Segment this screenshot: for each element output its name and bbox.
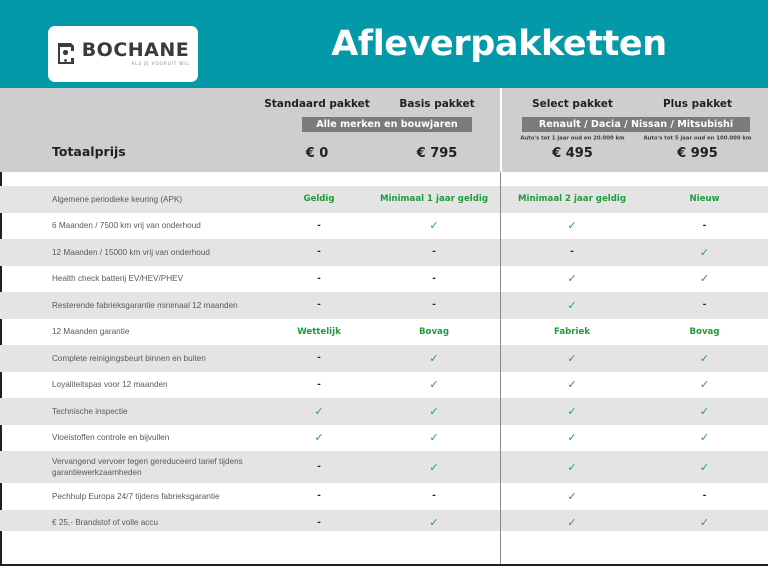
bochane-logo: BOCHANE ALS JE VOORUIT WIL — [48, 26, 198, 82]
cell-value: ✓ — [642, 461, 767, 474]
dash-marker: - — [703, 300, 707, 310]
header-table-gap — [0, 172, 768, 186]
table-row: Pechhulp Europa 24/7 tijdens fabrieksgar… — [0, 483, 768, 510]
column-group-divider — [500, 345, 501, 372]
table-row: Health check batterij EV/HEV/PHEV--✓✓ — [0, 266, 768, 293]
check-icon: ✓ — [429, 516, 438, 529]
price-select: € 495 — [510, 146, 635, 161]
cell-value: - — [264, 462, 374, 472]
column-group-divider — [500, 451, 501, 483]
header-left-group: Totaalprijs Standaard pakket Basis pakke… — [0, 88, 500, 172]
table-row: Technische inspectie✓✓✓✓ — [0, 398, 768, 425]
column-group-divider — [500, 483, 501, 510]
row-label: Technische inspectie — [2, 406, 264, 417]
cell-value: ✓ — [642, 246, 767, 259]
check-icon: ✓ — [567, 272, 576, 285]
cell-value: ✓ — [502, 352, 642, 365]
cell-value: - — [374, 300, 494, 310]
check-icon: ✓ — [700, 461, 709, 474]
row-label: Health check batterij EV/HEV/PHEV — [2, 273, 264, 284]
check-icon: ✓ — [429, 405, 438, 418]
cell-value: - — [264, 274, 374, 284]
column-header-plus: Plus pakket — [635, 98, 760, 110]
check-icon: ✓ — [567, 378, 576, 391]
column-group-divider — [500, 186, 501, 213]
cell-value: ✓ — [642, 378, 767, 391]
page-title: Afleverpakketten — [230, 0, 768, 88]
cell-value: - — [374, 491, 494, 501]
cell-value: ✓ — [642, 431, 767, 444]
cell-value: - — [264, 380, 374, 390]
check-icon: ✓ — [429, 219, 438, 232]
cell-value: ✓ — [374, 461, 494, 474]
row-label: Vloeistoffen controle en bijvullen — [2, 432, 264, 443]
header-right-group: Select pakket Plus pakket Renault / Daci… — [502, 88, 768, 172]
column-group-divider — [500, 213, 501, 240]
dash-marker: - — [432, 300, 436, 310]
column-group-divider — [500, 319, 501, 346]
cell-value: Minimaal 2 jaar geldig — [502, 194, 642, 204]
check-icon: ✓ — [700, 378, 709, 391]
table-bottom-row — [0, 531, 768, 566]
row-label: Algemene periodieke keuring (APK) — [2, 194, 264, 205]
column-header-basis: Basis pakket — [382, 98, 492, 110]
cell-value: ✓ — [502, 431, 642, 444]
column-group-divider — [500, 266, 501, 293]
cell-value: ✓ — [374, 405, 494, 418]
cell-value: ✓ — [374, 219, 494, 232]
table-row: Complete reinigingsbeurt binnen en buite… — [0, 345, 768, 372]
cell-value: ✓ — [374, 431, 494, 444]
value-text: Minimaal 1 jaar geldig — [380, 194, 488, 204]
cell-value: ✓ — [374, 516, 494, 529]
dash-marker: - — [432, 247, 436, 257]
cell-value: ✓ — [264, 431, 374, 444]
cell-value: ✓ — [264, 405, 374, 418]
dash-marker: - — [317, 491, 321, 501]
column-group-divider — [500, 239, 501, 266]
value-text: Wettelijk — [297, 327, 341, 337]
cell-value: - — [642, 300, 767, 310]
dash-marker: - — [317, 300, 321, 310]
cell-value: ✓ — [642, 272, 767, 285]
row-label: Pechhulp Europa 24/7 tijdens fabrieksgar… — [2, 491, 264, 502]
table-row: 6 Maanden / 7500 km vrij van onderhoud-✓… — [0, 213, 768, 240]
check-icon: ✓ — [429, 431, 438, 444]
value-text: Minimaal 2 jaar geldig — [518, 194, 626, 204]
cell-value: Nieuw — [642, 194, 767, 204]
row-label: 6 Maanden / 7500 km vrij van onderhoud — [2, 220, 264, 231]
table-row: Loyaliteitspas voor 12 maanden-✓✓✓ — [0, 372, 768, 399]
price-plus: € 995 — [635, 146, 760, 161]
value-text: Geldig — [303, 194, 334, 204]
cell-value: Minimaal 1 jaar geldig — [374, 194, 494, 204]
afleverpakketten-page: BOCHANE ALS JE VOORUIT WIL Afleverpakket… — [0, 0, 768, 576]
check-icon: ✓ — [567, 490, 576, 503]
column-group-divider — [500, 372, 501, 399]
cell-value: - — [264, 221, 374, 231]
cell-value: Fabriek — [502, 327, 642, 337]
cell-value: ✓ — [642, 352, 767, 365]
cell-value: - — [264, 518, 374, 528]
cell-value: ✓ — [374, 378, 494, 391]
dash-marker: - — [317, 247, 321, 257]
cell-value: ✓ — [502, 490, 642, 503]
dash-marker: - — [432, 491, 436, 501]
cell-value: ✓ — [642, 516, 767, 529]
check-icon: ✓ — [700, 516, 709, 529]
cell-value: ✓ — [642, 405, 767, 418]
package-header-block: Totaalprijs Standaard pakket Basis pakke… — [0, 88, 768, 172]
dash-marker: - — [317, 274, 321, 284]
check-icon: ✓ — [700, 352, 709, 365]
cell-value: ✓ — [502, 516, 642, 529]
bochane-mark-icon — [57, 41, 77, 67]
brand-bar-left: Alle merken en bouwjaren — [302, 117, 472, 132]
column-group-divider — [500, 531, 501, 564]
check-icon: ✓ — [567, 352, 576, 365]
column-header-select: Select pakket — [510, 98, 635, 110]
cell-value: - — [264, 491, 374, 501]
column-group-divider — [500, 425, 501, 452]
check-icon: ✓ — [314, 431, 323, 444]
table-row: Vloeistoffen controle en bijvullen✓✓✓✓ — [0, 425, 768, 452]
cell-value: - — [374, 274, 494, 284]
table-row: Resterende fabrieksgarantie minimaal 12 … — [0, 292, 768, 319]
check-icon: ✓ — [567, 219, 576, 232]
cell-value: Wettelijk — [264, 327, 374, 337]
cell-value: Geldig — [264, 194, 374, 204]
table-row: Vervangend vervoer tegen gereduceerd tar… — [0, 451, 768, 483]
dash-marker: - — [317, 462, 321, 472]
check-icon: ✓ — [314, 405, 323, 418]
logo-wordmark: BOCHANE — [82, 41, 190, 60]
row-label: 12 Maanden / 15000 km vrij van onderhoud — [2, 247, 264, 258]
price-basis: € 795 — [382, 146, 492, 161]
check-icon: ✓ — [429, 352, 438, 365]
value-text: Bovag — [689, 327, 719, 337]
note-plus: Auto's tot 5 jaar oud en 100.000 km — [616, 134, 768, 141]
cell-value: - — [374, 247, 494, 257]
cell-value: ✓ — [502, 378, 642, 391]
column-header-standaard: Standaard pakket — [262, 98, 372, 110]
cell-value: - — [264, 300, 374, 310]
brand-bar-right: Renault / Dacia / Nissan / Mitsubishi — [522, 117, 750, 132]
dash-marker: - — [703, 491, 707, 501]
check-icon: ✓ — [429, 461, 438, 474]
row-label: Resterende fabrieksgarantie minimaal 12 … — [2, 300, 264, 311]
cell-value: ✓ — [374, 352, 494, 365]
row-label: € 25,- Brandstof of volle accu — [2, 517, 264, 528]
page-banner: BOCHANE ALS JE VOORUIT WIL Afleverpakket… — [0, 0, 768, 88]
value-text: Nieuw — [689, 194, 719, 204]
column-group-divider — [500, 292, 501, 319]
cell-value: - — [642, 491, 767, 501]
dash-marker: - — [570, 247, 574, 257]
check-icon: ✓ — [567, 516, 576, 529]
row-label: Loyaliteitspas voor 12 maanden — [2, 379, 264, 390]
dash-marker: - — [317, 518, 321, 528]
check-icon: ✓ — [567, 299, 576, 312]
cell-value: Bovag — [642, 327, 767, 337]
check-icon: ✓ — [700, 246, 709, 259]
cell-value: ✓ — [502, 405, 642, 418]
dash-marker: - — [317, 353, 321, 363]
cell-value: - — [642, 221, 767, 231]
value-text: Bovag — [419, 327, 449, 337]
column-group-divider — [500, 172, 501, 186]
check-icon: ✓ — [700, 272, 709, 285]
price-standaard: € 0 — [262, 146, 372, 161]
row-label: 12 Maanden garantie — [2, 326, 264, 337]
comparison-table: Algemene periodieke keuring (APK)GeldigM… — [0, 186, 768, 536]
dash-marker: - — [432, 274, 436, 284]
check-icon: ✓ — [567, 431, 576, 444]
check-icon: ✓ — [700, 405, 709, 418]
table-row: 12 Maanden garantieWettelijkBovagFabriek… — [0, 319, 768, 346]
cell-value: Bovag — [374, 327, 494, 337]
row-label: Vervangend vervoer tegen gereduceerd tar… — [2, 456, 264, 478]
row-label: Complete reinigingsbeurt binnen en buite… — [2, 353, 264, 364]
check-icon: ✓ — [700, 431, 709, 444]
check-icon: ✓ — [429, 378, 438, 391]
cell-value: - — [502, 247, 642, 257]
check-icon: ✓ — [567, 461, 576, 474]
cell-value: ✓ — [502, 461, 642, 474]
logo-tagline: ALS JE VOORUIT WIL — [131, 63, 189, 67]
cell-value: - — [264, 247, 374, 257]
cell-value: ✓ — [502, 299, 642, 312]
table-row: 12 Maanden / 15000 km vrij van onderhoud… — [0, 239, 768, 266]
column-group-divider — [500, 398, 501, 425]
cell-value: - — [264, 353, 374, 363]
dash-marker: - — [317, 221, 321, 231]
value-text: Fabriek — [554, 327, 590, 337]
dash-marker: - — [703, 221, 707, 231]
check-icon: ✓ — [567, 405, 576, 418]
table-row: Algemene periodieke keuring (APK)GeldigM… — [0, 186, 768, 213]
cell-value: ✓ — [502, 272, 642, 285]
cell-value: ✓ — [502, 219, 642, 232]
dash-marker: - — [317, 380, 321, 390]
